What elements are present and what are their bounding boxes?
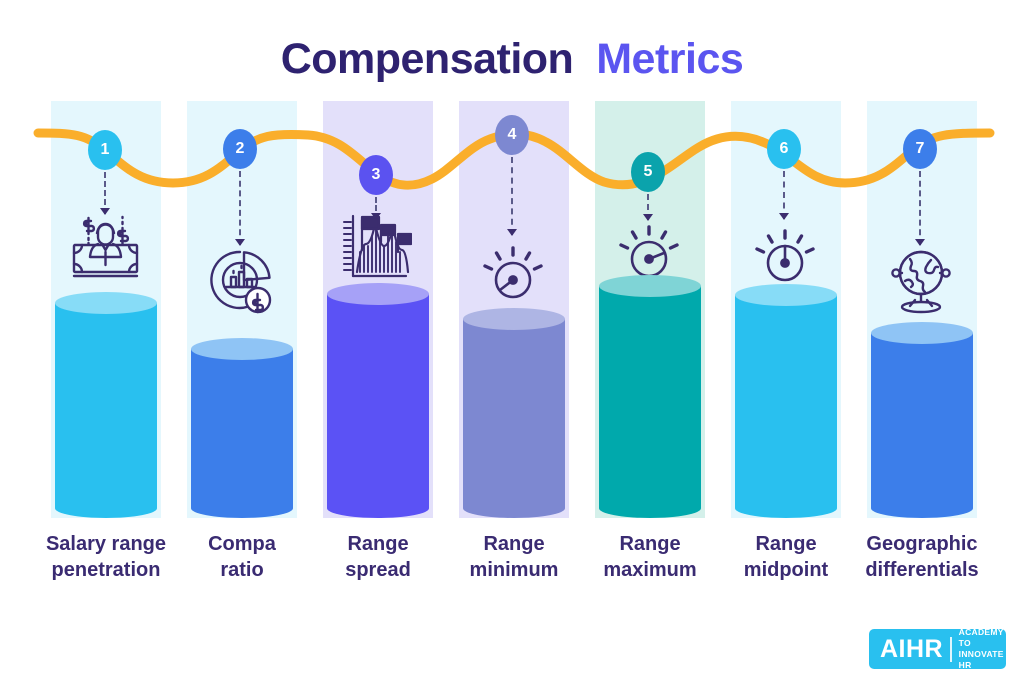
connector-7 bbox=[919, 171, 921, 245]
step-badge-4[interactable]: 4 bbox=[495, 115, 529, 155]
gauge-low-icon bbox=[478, 238, 548, 302]
bar-4 bbox=[463, 308, 565, 518]
bar-label-6: Range midpoint bbox=[711, 531, 861, 584]
bar-label-3: Range spread bbox=[303, 531, 453, 584]
bar-label-5: Range maximum bbox=[575, 531, 725, 584]
bar-label-2: Compa ratio bbox=[167, 531, 317, 584]
logo-tagline: ACADEMY TO INNOVATE HR bbox=[959, 627, 1006, 671]
step-badge-1[interactable]: 1 bbox=[88, 130, 122, 170]
connector-2 bbox=[239, 171, 241, 245]
step-badge-6[interactable]: 6 bbox=[767, 129, 801, 169]
bar-5 bbox=[599, 275, 701, 518]
step-number-4: 4 bbox=[508, 126, 517, 144]
aihr-logo[interactable]: AIHR ACADEMY TO INNOVATE HR bbox=[869, 629, 1006, 669]
step-number-7: 7 bbox=[916, 140, 925, 158]
logo-wordmark: AIHR bbox=[869, 635, 943, 664]
pie-chart-dollar-icon bbox=[204, 246, 276, 318]
logo-divider bbox=[950, 637, 952, 662]
bar-1 bbox=[55, 292, 157, 518]
title-part-accent: Metrics bbox=[596, 35, 743, 83]
bar-3 bbox=[327, 283, 429, 518]
step-badge-2[interactable]: 2 bbox=[223, 129, 257, 169]
infographic-canvas: Compensation Metrics 1 bbox=[0, 0, 1024, 680]
step-number-6: 6 bbox=[780, 140, 789, 158]
step-number-2: 2 bbox=[236, 140, 245, 158]
bar-2 bbox=[191, 338, 293, 518]
connector-6 bbox=[783, 171, 785, 219]
bar-6 bbox=[735, 284, 837, 518]
step-number-5: 5 bbox=[644, 163, 653, 181]
step-badge-7[interactable]: 7 bbox=[903, 129, 937, 169]
bar-7 bbox=[871, 322, 973, 518]
connector-1 bbox=[104, 172, 106, 214]
histogram-flags-icon bbox=[340, 212, 412, 280]
connector-4 bbox=[511, 157, 513, 235]
money-person-icon bbox=[68, 212, 143, 280]
step-badge-5[interactable]: 5 bbox=[631, 152, 665, 192]
title-part-primary: Compensation bbox=[281, 35, 574, 83]
bar-label-1: Salary range penetration bbox=[31, 531, 181, 584]
step-number-3: 3 bbox=[372, 166, 381, 184]
globe-stand-icon bbox=[886, 246, 956, 314]
gauge-mid-icon bbox=[750, 221, 820, 285]
page-title: Compensation Metrics bbox=[0, 36, 1024, 83]
bar-label-7: Geographic differentials bbox=[847, 531, 997, 584]
gauge-high-icon bbox=[614, 217, 684, 281]
bar-label-4: Range minimum bbox=[439, 531, 589, 584]
step-badge-3[interactable]: 3 bbox=[359, 155, 393, 195]
step-number-1: 1 bbox=[101, 141, 110, 159]
